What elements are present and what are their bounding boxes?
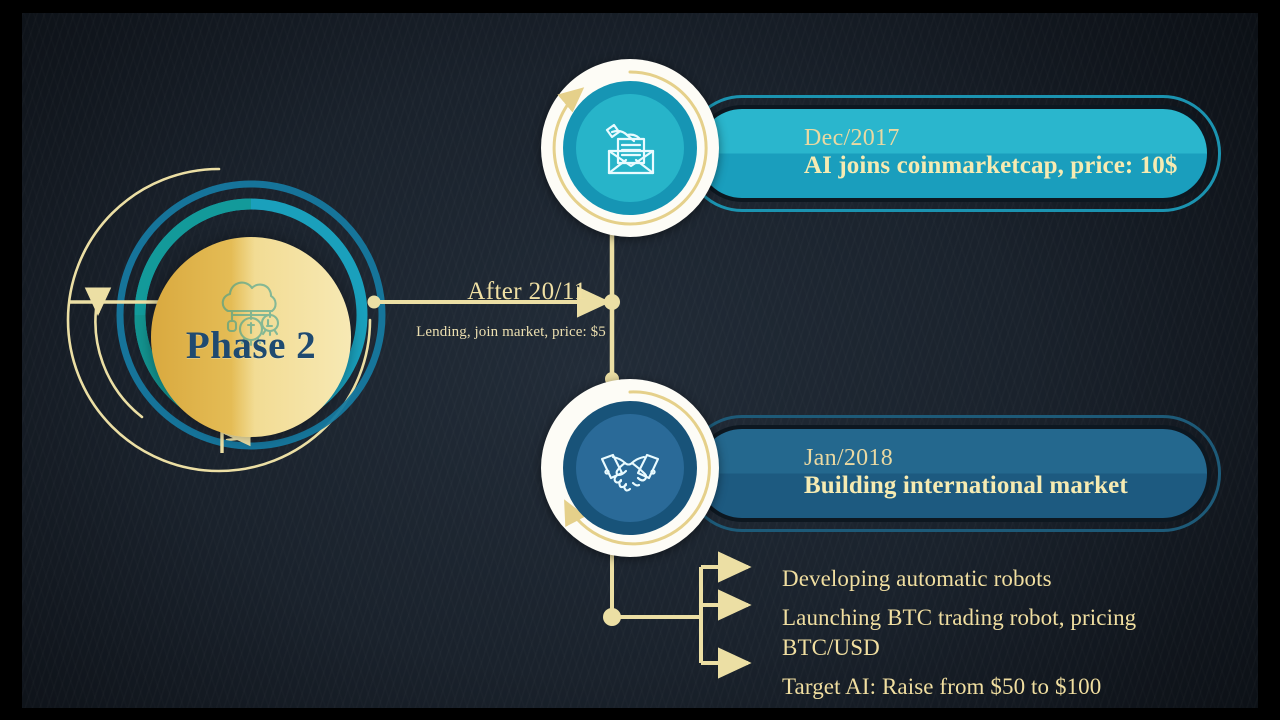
milestone-circle-jan-2018[interactable] bbox=[541, 379, 719, 557]
milestone-disc-inner-1 bbox=[576, 94, 684, 202]
milestone-circle-dec-2017[interactable] bbox=[541, 59, 719, 237]
milestone-card-dec-2017[interactable]: Dec/2017 AI joins coinmarketcap, price: … bbox=[694, 105, 1211, 202]
connector-title: After 20/11 bbox=[422, 278, 632, 306]
list-item: Developing automatic robots bbox=[782, 564, 1222, 594]
milestone-card-jan-2018[interactable]: Jan/2018 Building international market bbox=[694, 425, 1211, 522]
slide-canvas: Phase 2 Dec/2017 AI joins coinmarketcap,… bbox=[22, 13, 1258, 708]
slide-frame: Phase 2 Dec/2017 AI joins coinmarketcap,… bbox=[0, 0, 1280, 720]
list-item: Launching BTC trading robot, pricing BTC… bbox=[782, 603, 1222, 663]
milestone-disc-inner-2 bbox=[576, 414, 684, 522]
milestone-title-jan-2018: Building international market bbox=[804, 471, 1207, 501]
phase-hub[interactable]: Phase 2 bbox=[100, 186, 402, 488]
milestone-disc-outer-2 bbox=[563, 401, 697, 535]
phase-hub-core: Phase 2 bbox=[151, 237, 351, 437]
milestone-date-dec-2017: Dec/2017 bbox=[804, 126, 1207, 151]
phase-hub-label: Phase 2 bbox=[186, 323, 316, 368]
handshake-icon bbox=[593, 431, 667, 505]
milestone-title-dec-2017: AI joins coinmarketcap, price: 10$ bbox=[804, 151, 1207, 181]
hand-document-envelope-icon bbox=[593, 111, 667, 185]
milestone-date-jan-2018: Jan/2018 bbox=[804, 446, 1207, 471]
list-item: Target AI: Raise from $50 to $100 bbox=[782, 672, 1222, 702]
connector-subtitle: Lending, join market, price: $5 bbox=[390, 324, 632, 341]
bullet-node bbox=[603, 608, 621, 626]
milestone-disc-outer-1 bbox=[563, 81, 697, 215]
bullet-list: Developing automatic robots Launching BT… bbox=[782, 564, 1222, 702]
